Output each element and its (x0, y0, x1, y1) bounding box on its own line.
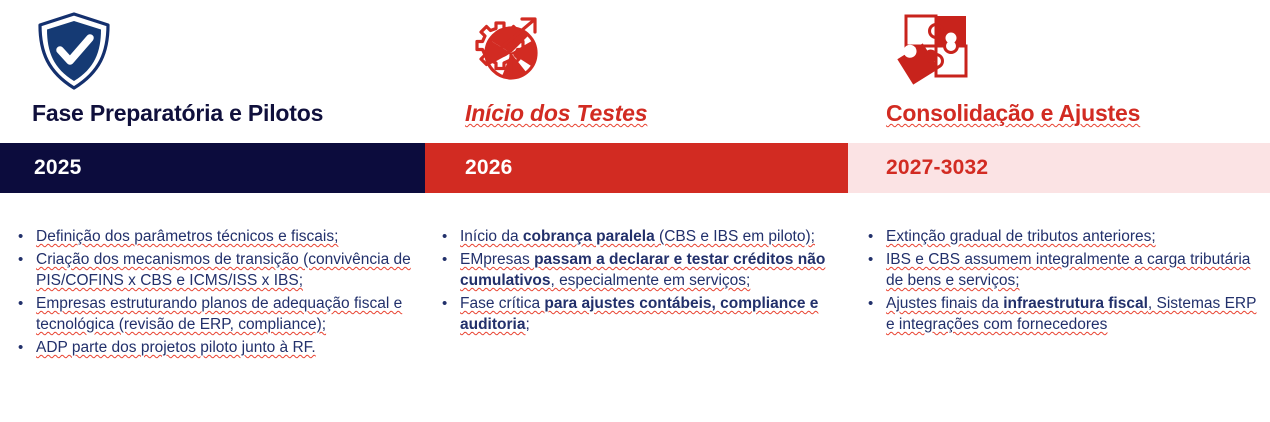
plain-text: Extinção gradual de tributos anteriores; (886, 228, 1156, 245)
plain-text: , especialmente em serviços; (550, 272, 750, 289)
list-item-text: Definição dos parâmetros técnicos e fisc… (36, 226, 422, 247)
emphasis-text: infraestrutura fiscal (1003, 295, 1148, 312)
list-item-text: Empresas estruturando planos de adequaçã… (36, 293, 422, 335)
list-item: •ADP parte dos projetos piloto junto à R… (12, 337, 422, 358)
list-item-text: Extinção gradual de tributos anteriores; (886, 226, 1262, 247)
bullet-marker: • (436, 226, 460, 247)
year-band-2025: 2025 (0, 143, 425, 193)
list-item-text: Ajustes finais da infraestrutura fiscal,… (886, 293, 1262, 335)
list-item: •EMpresas passam a declarar e testar cré… (436, 249, 836, 291)
plain-text: Fase crítica (460, 295, 544, 312)
list-item: •IBS e CBS assumem integralmente a carga… (862, 249, 1262, 291)
plain-text: EMpresas (460, 251, 534, 268)
plain-text: ADP parte dos projetos piloto junto à RF… (36, 339, 316, 356)
year-label-2026: 2026 (465, 156, 513, 180)
shield-check-icon (28, 8, 120, 96)
plain-text: Empresas estruturando planos de adequaçã… (36, 295, 402, 333)
plain-text: ; (525, 316, 529, 333)
emphasis-text: cobrança paralela (523, 228, 655, 245)
list-item: •Definição dos parâmetros técnicos e fis… (12, 226, 422, 247)
bullet-marker: • (862, 249, 886, 270)
plain-text: IBS e CBS assumem integralmente a carga … (886, 251, 1250, 289)
list-item: •Empresas estruturando planos de adequaç… (12, 293, 422, 335)
plain-text: Ajustes finais da (886, 295, 1003, 312)
list-item: •Criação dos mecanismos de transição (co… (12, 249, 422, 291)
year-label-2025: 2025 (34, 156, 82, 180)
bullet-column-2: •Início da cobrança paralela (CBS e IBS … (436, 226, 836, 337)
list-item: •Fase crítica para ajustes contábeis, co… (436, 293, 836, 335)
list-item-text: ADP parte dos projetos piloto junto à RF… (36, 337, 422, 358)
list-item-text: Início da cobrança paralela (CBS e IBS e… (460, 226, 836, 247)
phase-title-3-text: Consolidação e Ajustes (886, 100, 1140, 126)
phase-title-2-text: Início dos Testes (465, 100, 647, 126)
year-band-2026: 2026 (425, 143, 848, 193)
list-item: •Extinção gradual de tributos anteriores… (862, 226, 1262, 247)
bullet-marker: • (12, 249, 36, 270)
year-band-2027-3032: 2027-3032 (848, 143, 1270, 193)
bullet-column-1: •Definição dos parâmetros técnicos e fis… (12, 226, 422, 360)
list-item-text: Fase crítica para ajustes contábeis, com… (460, 293, 836, 335)
bullet-marker: • (12, 337, 36, 358)
bullet-marker: • (436, 293, 460, 314)
plain-text: (CBS e IBS em piloto); (655, 228, 815, 245)
list-item: •Início da cobrança paralela (CBS e IBS … (436, 226, 836, 247)
phase-title-1: Fase Preparatória e Pilotos (32, 98, 323, 128)
bullet-marker: • (12, 226, 36, 247)
gear-pie-chart-growth-icon (458, 8, 550, 96)
bullet-marker: • (12, 293, 36, 314)
bullet-marker: • (862, 293, 886, 314)
plain-text: Criação dos mecanismos de transição (con… (36, 251, 411, 289)
plain-text: Definição dos parâmetros técnicos e fisc… (36, 228, 338, 245)
list-item-text: Criação dos mecanismos de transição (con… (36, 249, 422, 291)
bullet-column-3: •Extinção gradual de tributos anteriores… (862, 226, 1262, 337)
phase-title-1-text: Fase Preparatória e Pilotos (32, 100, 323, 126)
bullet-marker: • (862, 226, 886, 247)
puzzle-pieces-icon (882, 8, 974, 96)
phase-title-3: Consolidação e Ajustes (886, 98, 1140, 128)
list-item: •Ajustes finais da infraestrutura fiscal… (862, 293, 1262, 335)
list-item-text: IBS e CBS assumem integralmente a carga … (886, 249, 1262, 291)
list-item-text: EMpresas passam a declarar e testar créd… (460, 249, 836, 291)
bullet-marker: • (436, 249, 460, 270)
timeline-board: Fase Preparatória e Pilotos Início dos T… (0, 0, 1270, 422)
year-label-2027-3032: 2027-3032 (886, 156, 988, 180)
plain-text: Início da (460, 228, 523, 245)
phase-title-2: Início dos Testes (465, 98, 647, 128)
